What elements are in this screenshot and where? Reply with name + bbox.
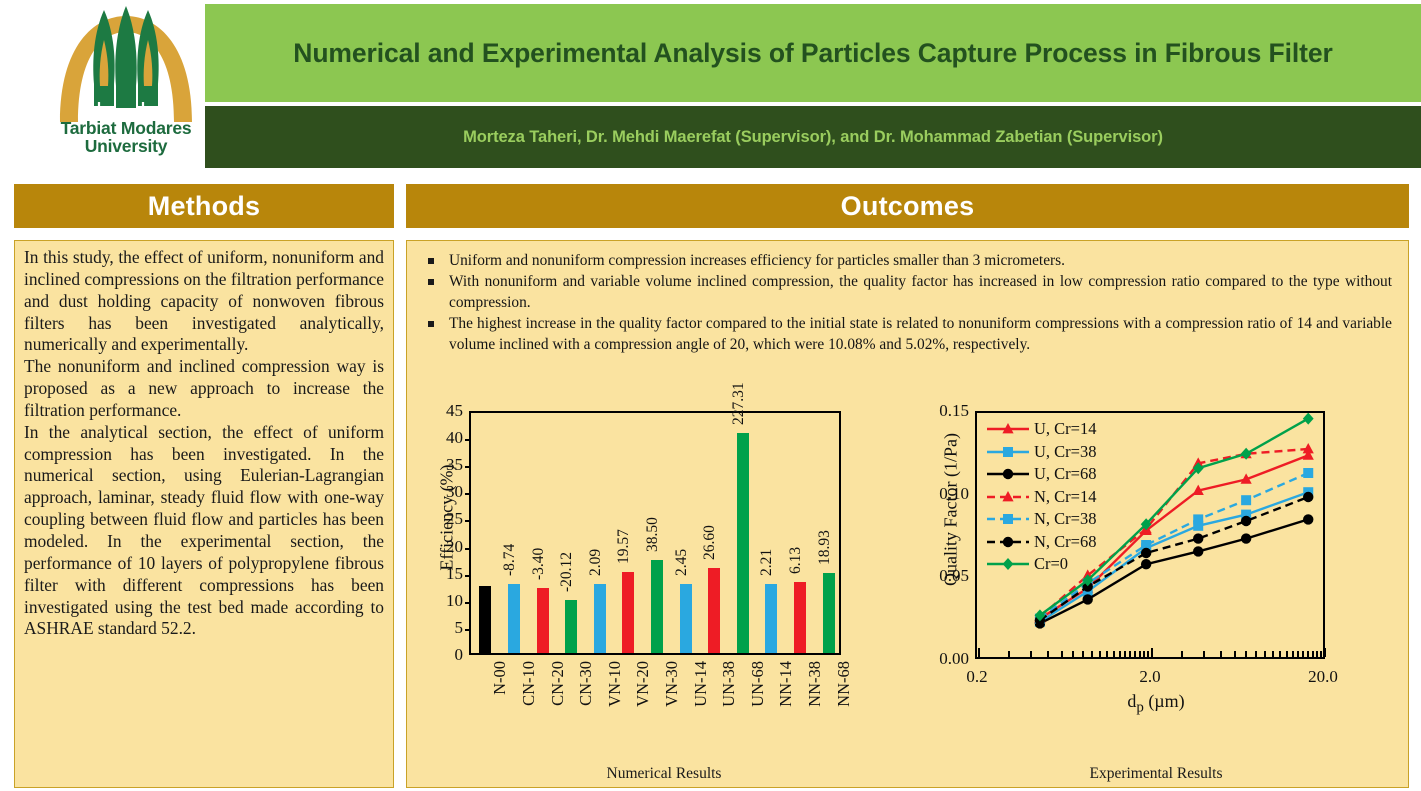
bar-chart-bar: 26.60 <box>708 568 720 653</box>
outcome-bullet: Uniform and nonuniform compression incre… <box>421 251 1392 271</box>
methods-panel: In this study, the effect of uniform, no… <box>14 240 394 788</box>
bar-chart-x-tick: CN-20 <box>548 661 568 706</box>
legend-swatch <box>985 488 1031 506</box>
bar-chart-x-tick: CN-30 <box>576 661 596 706</box>
line-chart-marker-circle <box>1303 514 1313 524</box>
bar-chart-value-label: 19.57 <box>615 530 633 565</box>
legend-label: N, Cr=38 <box>1034 511 1096 528</box>
line-chart-x-axis-label-sub: p <box>1136 700 1144 716</box>
methods-paragraph: In the analytical section, the effect of… <box>24 422 384 640</box>
line-chart-marker-circle <box>1141 559 1151 569</box>
line-chart-x-tick-mark <box>1324 648 1326 657</box>
bar-chart-bar: 18.93 <box>823 573 835 653</box>
line-chart-marker-circle <box>1003 469 1013 479</box>
bar-chart-x-tick: VN-10 <box>605 661 625 707</box>
legend-swatch <box>985 555 1031 573</box>
legend-swatch <box>985 510 1031 528</box>
line-chart-y-tick: 0.10 <box>927 484 969 504</box>
legend-swatch <box>985 533 1031 551</box>
outcomes-bullet-list: Uniform and nonuniform compression incre… <box>407 241 1408 355</box>
bar-chart-x-tick: CN-10 <box>519 661 539 706</box>
bar-chart-value-label: 2.09 <box>587 549 605 576</box>
author-banner: Morteza Taheri, Dr. Mehdi Maerefat (Supe… <box>205 106 1421 168</box>
legend-label: N, Cr=68 <box>1034 534 1096 551</box>
line-chart-y-tick: 0.05 <box>927 566 969 586</box>
poster-header: Tarbiat Modares University Numerical and… <box>0 0 1421 172</box>
line-chart-marker-circle <box>1003 537 1013 547</box>
legend-item: U, Cr=68 <box>985 463 1096 486</box>
bar-chart-tick-mark <box>465 602 471 604</box>
line-chart-x-tick: 2.0 <box>1139 667 1160 687</box>
line-chart-caption: Experimental Results <box>913 765 1399 783</box>
bar-chart-x-tick: UN-14 <box>691 661 711 707</box>
line-chart-marker-square <box>1303 468 1313 478</box>
bar-chart-y-tick: 45 <box>429 401 463 421</box>
bar-chart: Efficiency (%)-8.74-3.40-20.122.0919.573… <box>419 407 909 747</box>
outcomes-panel: Uniform and nonuniform compression incre… <box>406 240 1409 788</box>
bar-chart-x-tick: NN-38 <box>805 661 825 707</box>
line-chart-marker-circle <box>1083 594 1093 604</box>
bar-chart-bar: -20.12 <box>565 600 577 653</box>
logo-wordmark: Tarbiat Modares University <box>42 120 210 156</box>
line-chart-x-axis-label-base: d <box>1127 691 1136 711</box>
logo-mark-icon <box>42 2 210 126</box>
university-logo: Tarbiat Modares University <box>42 2 210 172</box>
bar-chart-bar: 2.21 <box>765 584 777 653</box>
outcome-bullet: With nonuniform and variable volume incl… <box>421 272 1392 313</box>
bar-chart-value-label: 26.60 <box>701 525 719 560</box>
bar-chart-value-label: 227.31 <box>730 383 748 426</box>
bar-chart-tick-mark <box>465 548 471 550</box>
line-chart-y-tick: 0.00 <box>927 649 969 669</box>
legend-item: Cr=0 <box>985 553 1096 576</box>
bar-chart-tick-mark <box>465 466 471 468</box>
bar-chart-tick-mark <box>465 439 471 441</box>
author-list: Morteza Taheri, Dr. Mehdi Maerefat (Supe… <box>463 128 1163 147</box>
legend-label: U, Cr=14 <box>1034 421 1096 438</box>
bar-chart-bar: -8.74 <box>508 584 520 653</box>
section-header-methods: Methods <box>14 184 394 228</box>
bar-chart-value-label: -8.74 <box>501 544 519 576</box>
legend-item: N, Cr=68 <box>985 531 1096 554</box>
bar-chart-y-tick: 15 <box>429 564 463 584</box>
charts-row: Efficiency (%)-8.74-3.40-20.122.0919.573… <box>407 401 1408 787</box>
line-chart-marker-square <box>1241 495 1251 505</box>
line-chart-marker-circle <box>1241 516 1251 526</box>
bar-chart-tick-mark <box>465 493 471 495</box>
bar-chart-y-tick: 25 <box>429 509 463 529</box>
bar-chart-value-label: -3.40 <box>530 548 548 580</box>
legend-swatch <box>985 465 1031 483</box>
methods-body: In this study, the effect of uniform, no… <box>15 241 393 640</box>
bar-chart-bar: 2.09 <box>594 584 606 653</box>
line-chart-marker-circle <box>1193 533 1203 543</box>
legend-item: U, Cr=14 <box>985 418 1096 441</box>
bar-chart-value-label: 2.45 <box>673 549 691 576</box>
line-chart-plot-area: U, Cr=14U, Cr=38U, Cr=68N, Cr=14N, Cr=38… <box>975 411 1325 659</box>
legend-swatch <box>985 443 1031 461</box>
line-chart-marker-circle <box>1241 533 1251 543</box>
line-chart-marker-square <box>1003 514 1013 524</box>
bar-chart-bar: -3.40 <box>537 588 549 653</box>
bar-chart-y-tick: 10 <box>429 591 463 611</box>
bar-chart-x-tick: VN-30 <box>662 661 682 707</box>
line-chart-x-tick: 0.2 <box>966 667 987 687</box>
bar-chart-x-tick: N-00 <box>490 661 510 695</box>
line-chart-marker-circle <box>1193 546 1203 556</box>
bar-chart-caption: Numerical Results <box>419 765 909 783</box>
bar-chart-tick-mark <box>465 629 471 631</box>
bar-chart-tick-mark <box>465 520 471 522</box>
line-chart-x-tick: 20.0 <box>1308 667 1338 687</box>
poster-root: Tarbiat Modares University Numerical and… <box>0 0 1421 791</box>
legend-label: Cr=0 <box>1034 556 1068 573</box>
bar-chart-x-tick: NN-14 <box>776 661 796 707</box>
line-chart-marker-circle <box>1141 548 1151 558</box>
line-chart-x-axis-label: dp (µm) <box>913 691 1399 717</box>
legend-label: U, Cr=68 <box>1034 466 1096 483</box>
bar-chart-y-tick: 30 <box>429 482 463 502</box>
bar-chart-y-tick: 20 <box>429 537 463 557</box>
methods-paragraph: In this study, the effect of uniform, no… <box>24 247 384 356</box>
bar-chart-x-tick: VN-20 <box>633 661 653 707</box>
legend-label: N, Cr=14 <box>1034 489 1096 506</box>
section-title-outcomes: Outcomes <box>841 191 975 222</box>
section-title-methods: Methods <box>148 191 260 222</box>
bar-chart-value-label: 38.50 <box>644 517 662 552</box>
bar-chart-bar <box>479 586 491 653</box>
bar-chart-y-tick: 0 <box>429 645 463 665</box>
bar-chart-tick-mark <box>465 575 471 577</box>
title-banner: Numerical and Experimental Analysis of P… <box>205 4 1421 102</box>
bar-chart-y-tick: 40 <box>429 428 463 448</box>
bar-chart-cell: Efficiency (%)-8.74-3.40-20.122.0919.573… <box>419 401 909 787</box>
legend-item: U, Cr=38 <box>985 441 1096 464</box>
line-chart: Quality Factor (1/Pa)U, Cr=14U, Cr=38U, … <box>913 407 1399 747</box>
bar-chart-y-tick: 35 <box>429 455 463 475</box>
methods-paragraph: The nonuniform and inclined compression … <box>24 356 384 422</box>
line-chart-y-tick: 0.15 <box>927 401 969 421</box>
legend-label: U, Cr=38 <box>1034 444 1096 461</box>
line-chart-marker-diamond <box>1303 413 1314 425</box>
outcome-bullet: The highest increase in the quality fact… <box>421 314 1392 355</box>
section-header-outcomes: Outcomes <box>406 184 1409 228</box>
bar-chart-y-tick: 5 <box>429 618 463 638</box>
bar-chart-bar: 227.31 <box>737 433 749 653</box>
page-title: Numerical and Experimental Analysis of P… <box>267 37 1358 69</box>
line-chart-x-axis-label-unit: (µm) <box>1144 691 1185 711</box>
legend-item: N, Cr=14 <box>985 486 1096 509</box>
line-chart-marker-square <box>1003 447 1013 457</box>
bar-chart-x-tick: UN-68 <box>748 661 768 707</box>
bar-chart-bar: 6.13 <box>794 582 806 653</box>
bar-chart-bar: 38.50 <box>651 560 663 653</box>
bar-chart-bar: 2.45 <box>680 584 692 653</box>
bar-chart-value-label: -20.12 <box>558 552 576 592</box>
line-chart-marker-circle <box>1303 492 1313 502</box>
logo-line-2: University <box>42 138 210 156</box>
bar-chart-x-tick: NN-68 <box>834 661 854 707</box>
legend-swatch <box>985 420 1031 438</box>
line-chart-legend: U, Cr=14U, Cr=38U, Cr=68N, Cr=14N, Cr=38… <box>985 418 1096 576</box>
line-chart-marker-square <box>1193 514 1203 524</box>
bar-chart-plot-area: -8.74-3.40-20.122.0919.5738.502.4526.602… <box>469 411 841 655</box>
bar-chart-value-label: 2.21 <box>758 549 776 576</box>
legend-item: N, Cr=38 <box>985 508 1096 531</box>
bar-chart-value-label: 6.13 <box>787 546 805 573</box>
line-chart-marker-diamond <box>1003 558 1014 570</box>
bar-chart-bar: 19.57 <box>622 572 634 653</box>
bar-chart-x-tick: UN-38 <box>719 661 739 707</box>
line-chart-cell: Quality Factor (1/Pa)U, Cr=14U, Cr=38U, … <box>913 401 1399 787</box>
bar-chart-value-label: 18.93 <box>816 530 834 565</box>
